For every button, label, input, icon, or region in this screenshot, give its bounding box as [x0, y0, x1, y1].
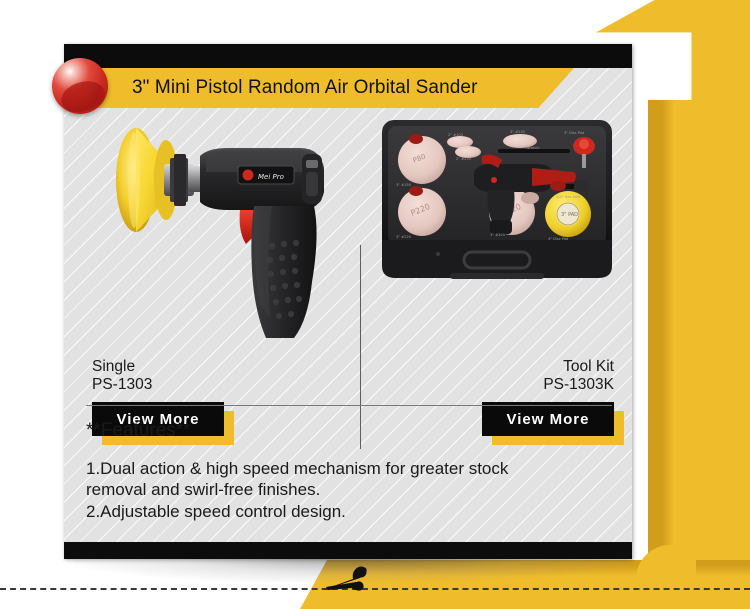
features-section: **Features** 1.Dual action & high speed …	[86, 420, 616, 523]
scissors-icon	[320, 565, 380, 595]
flyer-page: 3" Mini Pistol Random Air Orbital Sander	[0, 0, 750, 609]
svg-text:Wrench: Wrench	[526, 146, 540, 150]
decorative-red-sphere	[52, 58, 108, 114]
features-heading: **Features**	[86, 420, 616, 442]
product-tool-kit: P80 P220 P320	[364, 112, 632, 402]
svg-text:3" #230: 3" #230	[510, 130, 526, 134]
card-top-bar	[64, 44, 632, 68]
caption-single: Single PS-1303	[92, 358, 152, 394]
products-section: Mei Pro	[64, 112, 632, 402]
svg-text:Mei Pro: Mei Pro	[258, 173, 284, 181]
page-title: 3" Mini Pistol Random Air Orbital Sander	[132, 77, 478, 99]
feature-item: 2.Adjustable speed control design.	[86, 501, 616, 522]
vertical-divider	[360, 245, 361, 449]
feature-item: 1.Dual action & high speed mechanism for…	[86, 458, 616, 500]
svg-text:3" #220: 3" #220	[396, 235, 412, 239]
caption-tool-kit: Tool Kit PS-1303K	[543, 358, 614, 394]
product-single: Mei Pro	[70, 112, 360, 402]
svg-text:3" #320: 3" #320	[490, 233, 506, 237]
title-banner: 3" Mini Pistol Random Air Orbital Sander	[64, 68, 574, 108]
svg-text:1/4" Hex Inlet: 1/4" Hex Inlet	[556, 195, 581, 199]
svg-text:3" Disc Pad: 3" Disc Pad	[564, 131, 584, 135]
horizontal-divider	[86, 405, 612, 406]
product-model-tool-kit: PS-1303K	[543, 376, 614, 394]
sander-tool-kit-case-photo: P80 P220 P320	[378, 116, 616, 286]
card-body: 3" Mini Pistol Random Air Orbital Sander	[64, 68, 632, 542]
svg-text:3" #150: 3" #150	[396, 183, 412, 187]
svg-text:2" #220: 2" #220	[456, 157, 472, 161]
svg-text:2" #100: 2" #100	[448, 133, 464, 137]
product-name-single: Single	[92, 358, 152, 376]
product-name-tool-kit: Tool Kit	[543, 358, 614, 376]
product-card: 3" Mini Pistol Random Air Orbital Sander	[64, 44, 632, 559]
accent-band-corner	[636, 545, 696, 605]
mini-pistol-air-orbital-sander-photo: Mei Pro	[88, 114, 348, 349]
product-model-single: PS-1303	[92, 376, 152, 394]
svg-text:3" Disc Pad: 3" Disc Pad	[548, 237, 568, 241]
accent-band-right	[648, 100, 750, 609]
svg-text:3" PAD: 3" PAD	[561, 212, 578, 218]
card-bottom-bar	[64, 542, 632, 559]
